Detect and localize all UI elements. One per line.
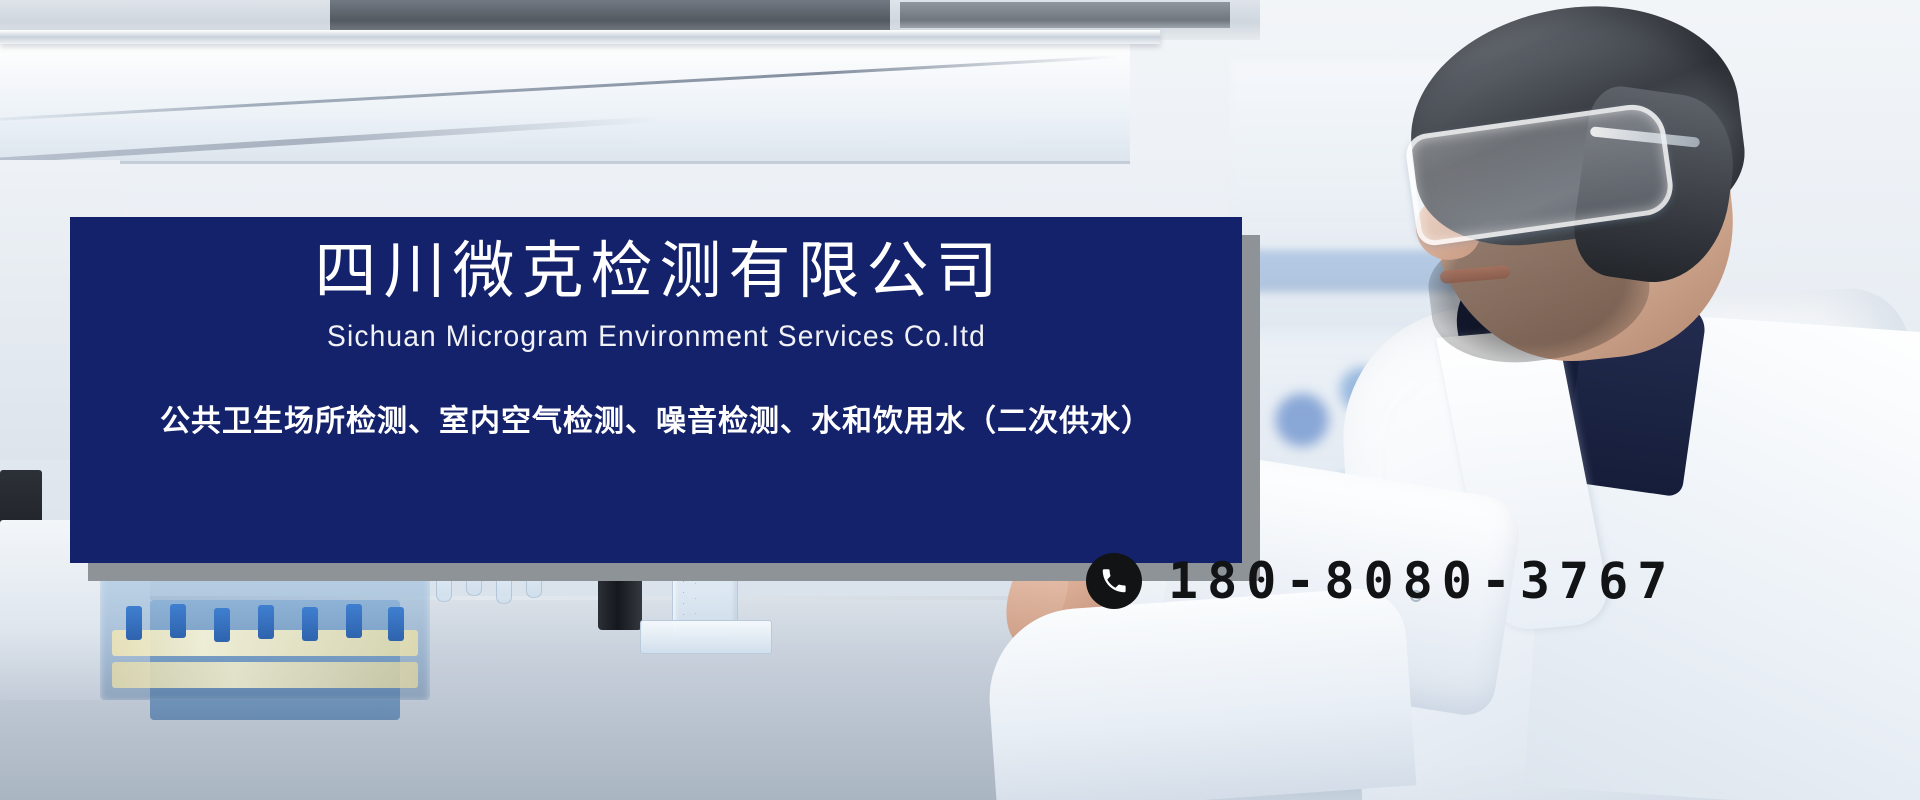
tube-cap (302, 607, 318, 641)
test-tube-rack (100, 560, 430, 700)
lower-arm (984, 586, 1417, 800)
scientist-figure (1290, 0, 1920, 800)
lab-shelf-dark-band (330, 0, 890, 34)
hero-banner: 四川微克检测有限公司 Sichuan Microgram Environment… (0, 0, 1920, 800)
services-tagline: 公共卫生场所检测、室内空气检测、噪音检测、水和饮用水（二次供水） (160, 396, 1152, 440)
tube-cap (170, 604, 186, 638)
contact-phone[interactable]: 180-8080-3767 (1086, 552, 1676, 610)
cylinder-base (640, 620, 772, 654)
company-name-chinese: 四川微克检测有限公司 (307, 239, 1004, 304)
fume-hood-rail (0, 30, 1160, 44)
tube-cap (388, 607, 404, 641)
tube-cap (346, 604, 362, 638)
rack-row (112, 662, 418, 688)
lab-shelf-dark-band-2 (900, 2, 1230, 28)
phone-number-text[interactable]: 180-8080-3767 (1168, 552, 1676, 610)
tube-cap (258, 605, 274, 639)
company-info-panel: 四川微克检测有限公司 Sichuan Microgram Environment… (70, 217, 1242, 563)
tube-cap (214, 608, 230, 642)
phone-icon[interactable] (1086, 553, 1142, 609)
tube-cap (126, 606, 142, 640)
company-name-english: Sichuan Microgram Environment Services C… (327, 320, 986, 354)
